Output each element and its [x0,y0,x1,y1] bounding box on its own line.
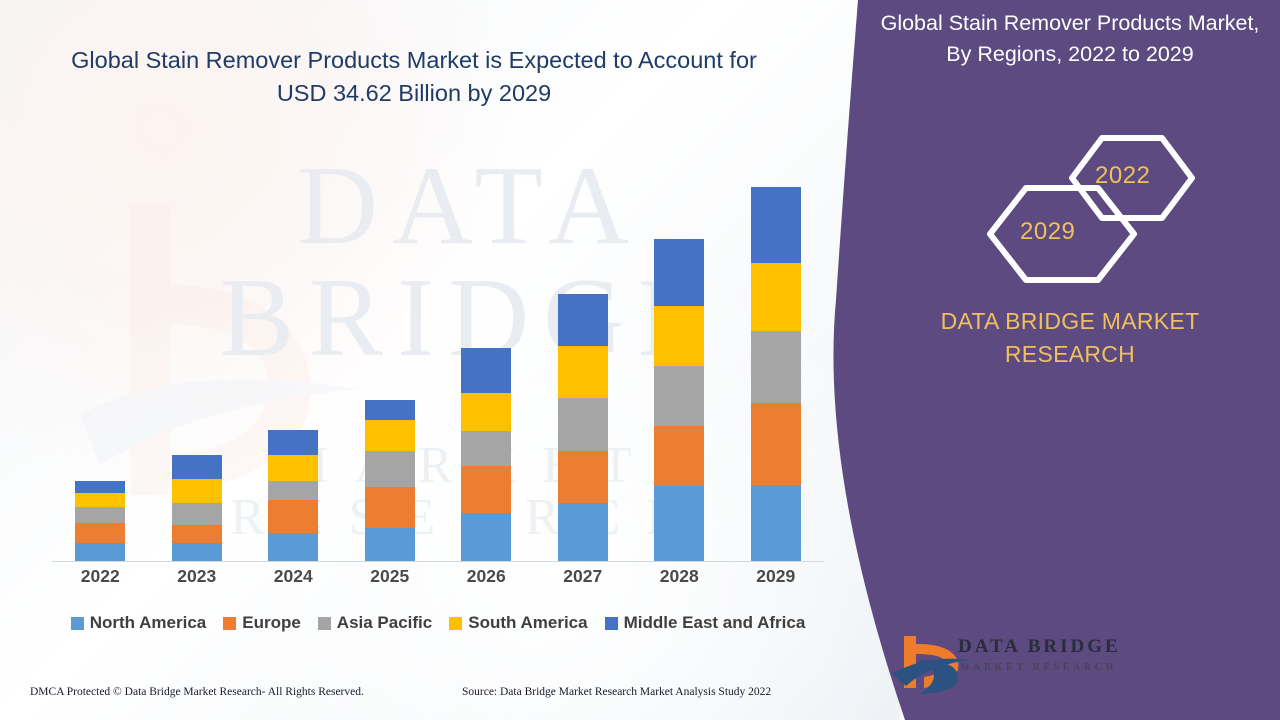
bar-segment-south-america [654,306,704,366]
bar-segment-europe [172,525,222,543]
bar-2025 [365,400,415,561]
brand-name: DATA BRIDGE MARKET RESEARCH [880,305,1260,372]
bar-segment-europe [268,500,318,533]
legend-item-europe[interactable]: Europe [223,613,301,633]
legend-item-south-america[interactable]: South America [449,613,587,633]
chart-axis-line [52,561,824,563]
logo-tagline: MARKET RESEARCH [960,662,1117,673]
bar-2024 [268,430,318,561]
bar-segment-south-america [461,393,511,431]
bar-2029 [751,187,801,561]
chart-legend: North AmericaEuropeAsia PacificSouth Ame… [52,610,824,636]
hexagon-badges: 2022 2029 [880,130,1260,310]
legend-item-asia-pacific[interactable]: Asia Pacific [318,613,432,633]
x-axis-label-2024: 2024 [248,566,338,587]
bar-segment-south-america [558,346,608,398]
bar-segment-europe [365,487,415,528]
bar-segment-middle-east-and-africa [558,294,608,346]
bar-segment-south-america [172,479,222,503]
bar-2023 [172,455,222,561]
legend-label: Asia Pacific [337,613,432,633]
x-axis-label-2022: 2022 [55,566,145,587]
legend-label: Europe [242,613,301,633]
legend-label: South America [468,613,587,633]
bar-segment-north-america [461,513,511,561]
brand-line-2: RESEARCH [880,338,1260,371]
bar-segment-europe [75,523,125,543]
x-axis-label-2026: 2026 [441,566,531,587]
bar-segment-middle-east-and-africa [268,430,318,455]
bar-segment-europe [654,426,704,486]
bar-segment-asia-pacific [558,398,608,451]
bar-2026 [461,348,511,561]
x-axis-label-2029: 2029 [731,566,821,587]
bar-2022 [75,481,125,561]
bar-segment-asia-pacific [172,503,222,525]
page-title: Global Stain Remover Products Market is … [64,44,764,111]
bar-segment-europe [751,403,801,485]
bar-segment-south-america [365,420,415,451]
bar-segment-europe [461,466,511,513]
bar-segment-north-america [558,503,608,561]
stacked-bar-chart [52,150,824,562]
legend-swatch-icon [605,617,618,630]
bar-segment-south-america [751,263,801,331]
legend-swatch-icon [223,617,236,630]
legend-swatch-icon [318,617,331,630]
bar-segment-middle-east-and-africa [751,187,801,263]
bar-2028 [654,239,704,561]
footer-source: Source: Data Bridge Market Research Mark… [462,686,771,698]
bar-segment-asia-pacific [751,331,801,403]
footer-copyright: DMCA Protected © Data Bridge Market Rese… [30,686,364,698]
hexagon-2029-label: 2029 [1020,218,1075,246]
legend-label: North America [90,613,207,633]
panel-content: Global Stain Remover Products Market, By… [880,0,1280,720]
bar-segment-middle-east-and-africa [461,348,511,393]
bar-segment-south-america [268,455,318,481]
bar-segment-north-america [172,543,222,561]
x-axis-label-2023: 2023 [152,566,242,587]
legend-item-middle-east-and-africa[interactable]: Middle East and Africa [605,613,806,633]
bar-segment-asia-pacific [654,366,704,426]
bar-segment-asia-pacific [268,481,318,500]
chart-x-axis-labels: 20222023202420252026202720282029 [52,566,824,594]
bar-segment-middle-east-and-africa [654,239,704,306]
bar-segment-north-america [751,485,801,561]
bar-segment-north-america [268,533,318,561]
legend-swatch-icon [449,617,462,630]
hexagon-2022-label: 2022 [1095,162,1150,190]
bar-segment-middle-east-and-africa [172,455,222,479]
x-axis-label-2027: 2027 [538,566,628,587]
x-axis-label-2025: 2025 [345,566,435,587]
panel-title: Global Stain Remover Products Market, By… [880,8,1260,70]
legend-label: Middle East and Africa [624,613,806,633]
bar-segment-asia-pacific [75,507,125,523]
logo-wordmark: DATA BRIDGE [958,636,1121,658]
bar-segment-middle-east-and-africa [365,400,415,420]
x-axis-label-2028: 2028 [634,566,724,587]
bar-segment-asia-pacific [461,431,511,466]
brand-line-1: DATA BRIDGE MARKET [880,305,1260,338]
bar-2027 [558,294,608,561]
bar-segment-north-america [75,543,125,561]
bar-segment-middle-east-and-africa [75,481,125,493]
legend-swatch-icon [71,617,84,630]
bar-segment-europe [558,451,608,503]
bar-segment-north-america [365,528,415,561]
bar-segment-asia-pacific [365,451,415,487]
bar-segment-south-america [75,493,125,507]
legend-item-north-america[interactable]: North America [71,613,207,633]
chart-plot-area [52,150,824,562]
bar-segment-north-america [654,486,704,561]
